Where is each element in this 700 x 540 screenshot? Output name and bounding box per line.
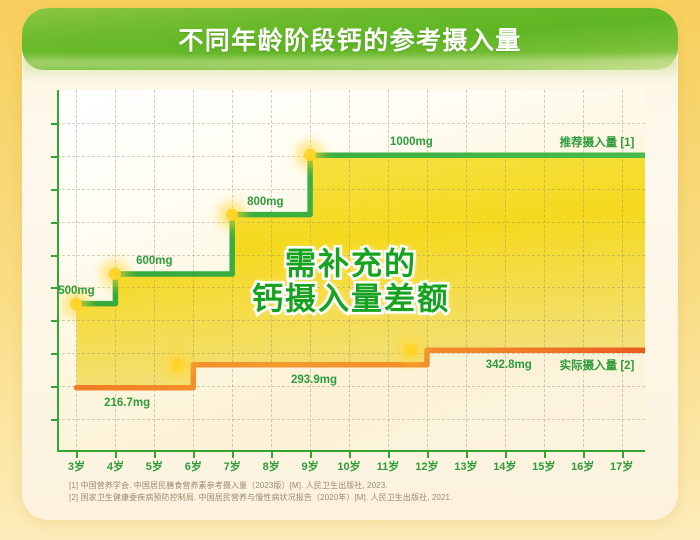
data-point-marker — [226, 208, 239, 221]
data-point-marker — [171, 358, 184, 371]
data-value-label: 600mg — [136, 255, 172, 267]
data-value-label: 293.9mg — [291, 374, 337, 386]
x-axis-label: 14岁 — [493, 458, 516, 474]
x-axis-tick — [388, 450, 390, 458]
y-axis-tick — [51, 386, 59, 388]
footnotes: [1] 中国营养学会. 中国居民膳食营养素参考摄入量（2023版）[M]. 人民… — [69, 480, 669, 505]
x-axis-tick — [505, 450, 507, 458]
data-value-label: 500mg — [58, 285, 94, 297]
x-axis-label: 6岁 — [185, 458, 202, 474]
x-axis-tick — [76, 450, 78, 458]
x-axis-tick — [622, 450, 624, 458]
y-axis-tick — [51, 320, 59, 322]
x-axis-tick — [193, 450, 195, 458]
x-axis-label: 4岁 — [107, 458, 124, 474]
x-axis-label: 17岁 — [610, 458, 633, 474]
x-axis-label: 12岁 — [415, 458, 438, 474]
x-axis-label: 15岁 — [532, 458, 555, 474]
x-axis-label: 5岁 — [146, 458, 163, 474]
series-legend-label: 实际摄入量 [2] — [560, 357, 635, 373]
x-axis-label: 8岁 — [263, 458, 280, 474]
y-axis-tick — [51, 189, 59, 191]
y-axis-tick — [51, 156, 59, 158]
x-axis-tick — [427, 450, 429, 458]
x-axis-label: 10岁 — [337, 458, 360, 474]
x-axis-label: 7岁 — [224, 458, 241, 474]
x-axis-tick — [271, 450, 273, 458]
y-axis-tick — [51, 222, 59, 224]
data-point-marker — [405, 344, 418, 357]
x-axis-label: 9岁 — [302, 458, 319, 474]
x-axis-labels: 3岁4岁5岁6岁7岁8岁9岁10岁11岁12岁13岁14岁15岁16岁17岁 — [57, 458, 645, 476]
data-value-label: 1000mg — [390, 136, 433, 148]
x-axis-label: 3岁 — [68, 458, 85, 474]
page-title: 不同年龄阶段钙的参考摄入量 — [178, 21, 521, 57]
title-bar: 不同年龄阶段钙的参考摄入量 — [22, 8, 678, 70]
data-value-label: 342.8mg — [486, 359, 532, 371]
data-point-marker — [70, 297, 83, 310]
x-axis-label: 13岁 — [454, 458, 477, 474]
data-value-label: 800mg — [247, 196, 283, 208]
x-axis-tick — [232, 450, 234, 458]
infographic-card: 不同年龄阶段钙的参考摄入量 500mg600mg800mg1000mg推荐摄入量… — [22, 8, 678, 520]
chart-plot-area: 500mg600mg800mg1000mg推荐摄入量 [1]216.7mg293… — [57, 90, 645, 452]
x-axis-tick — [310, 450, 312, 458]
x-axis-tick — [583, 450, 585, 458]
x-axis-label: 11岁 — [377, 458, 400, 474]
y-axis-tick — [51, 419, 59, 421]
x-axis-tick — [544, 450, 546, 458]
y-axis-tick — [51, 353, 59, 355]
x-axis-label: 16岁 — [571, 458, 594, 474]
footnote-2: [2] 国家卫生健康委疾病预防控制局. 中国居民营养与慢性病状况报告（2020年… — [69, 492, 669, 504]
y-axis-tick — [51, 287, 59, 289]
y-axis-tick — [51, 123, 59, 125]
x-axis-tick — [349, 450, 351, 458]
data-value-label: 216.7mg — [104, 397, 150, 409]
data-point-marker — [109, 267, 122, 280]
recommended-intake-line — [77, 155, 646, 303]
x-axis-tick — [466, 450, 468, 458]
footnote-1: [1] 中国营养学会. 中国居民膳食营养素参考摄入量（2023版）[M]. 人民… — [69, 480, 669, 492]
y-axis-tick — [51, 255, 59, 257]
series-legend-label: 推荐摄入量 [1] — [560, 134, 635, 150]
x-axis-tick — [115, 450, 117, 458]
x-axis-tick — [154, 450, 156, 458]
data-point-marker — [304, 149, 317, 162]
